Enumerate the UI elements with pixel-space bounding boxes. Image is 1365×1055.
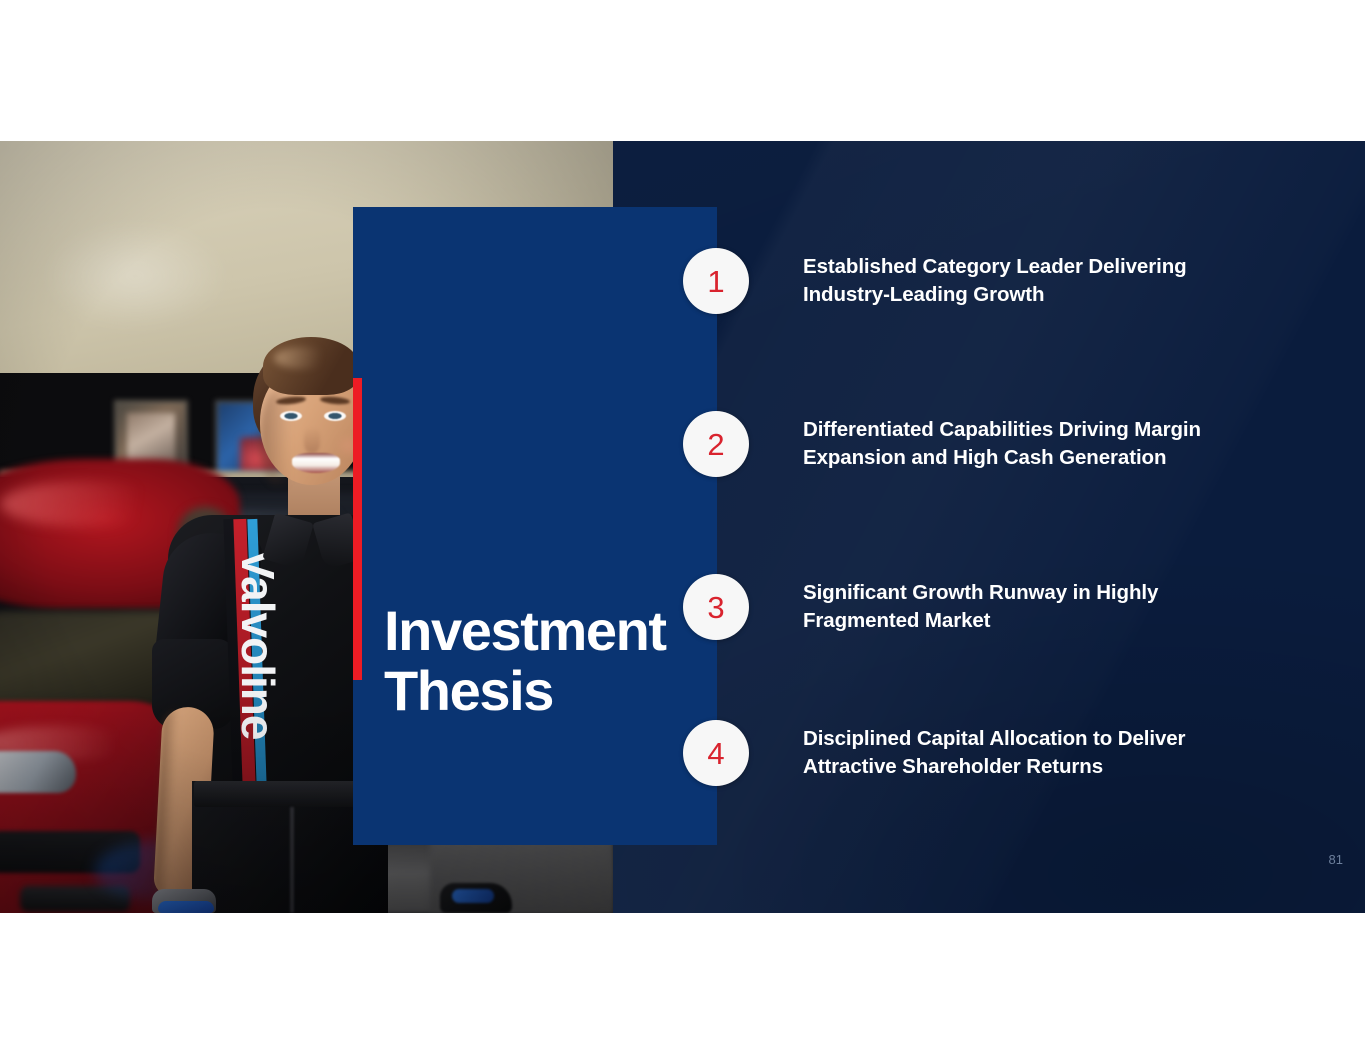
item-number-badge: 2 [683,411,749,477]
photo-second-glove-blue [452,889,494,903]
item-label: Disciplined Capital Allocation to Delive… [803,725,1255,782]
investment-thesis-list: 1 Established Category Leader Delivering… [683,141,1283,913]
list-item: 3 Significant Growth Runway in Highly Fr… [683,574,1283,640]
slide-canvas: Valvoline Investment Thesis 1 Establishe… [0,141,1365,913]
photo-shirt-wordmark: Valvoline [230,549,286,809]
photo-face-shadow [260,391,294,485]
list-item: 1 Established Category Leader Delivering… [683,248,1283,314]
photo-hair-highlight [274,347,332,369]
photo-red-car-hood-highlight [0,481,170,527]
item-label: Significant Growth Runway in Highly Frag… [803,579,1255,636]
photo-pants-seam [290,807,294,913]
item-label: Differentiated Capabilities Driving Marg… [803,416,1255,473]
red-accent-bar [353,378,362,680]
list-item: 4 Disciplined Capital Allocation to Deli… [683,720,1283,786]
photo-car-headlight [0,751,76,793]
page-title: Investment Thesis [384,601,674,722]
page-title-line-1: Investment [384,601,674,661]
photo-nose [304,427,320,453]
list-item: 2 Differentiated Capabilities Driving Ma… [683,411,1283,477]
photo-eye-left [280,411,302,421]
photo-wall-frame-left-art [127,413,175,465]
title-panel: Investment Thesis [353,207,717,845]
page-number: 81 [1329,852,1343,867]
item-label: Established Category Leader Delivering I… [803,253,1255,310]
photo-smile [292,453,340,473]
item-number-badge: 4 [683,720,749,786]
page-title-line-2: Thesis [384,661,674,721]
item-number-badge: 1 [683,248,749,314]
photo-work-glove-blue-palm [158,901,214,913]
item-number-badge: 3 [683,574,749,640]
photo-wall-highlight [40,221,230,331]
photo-eye-right [324,411,346,421]
